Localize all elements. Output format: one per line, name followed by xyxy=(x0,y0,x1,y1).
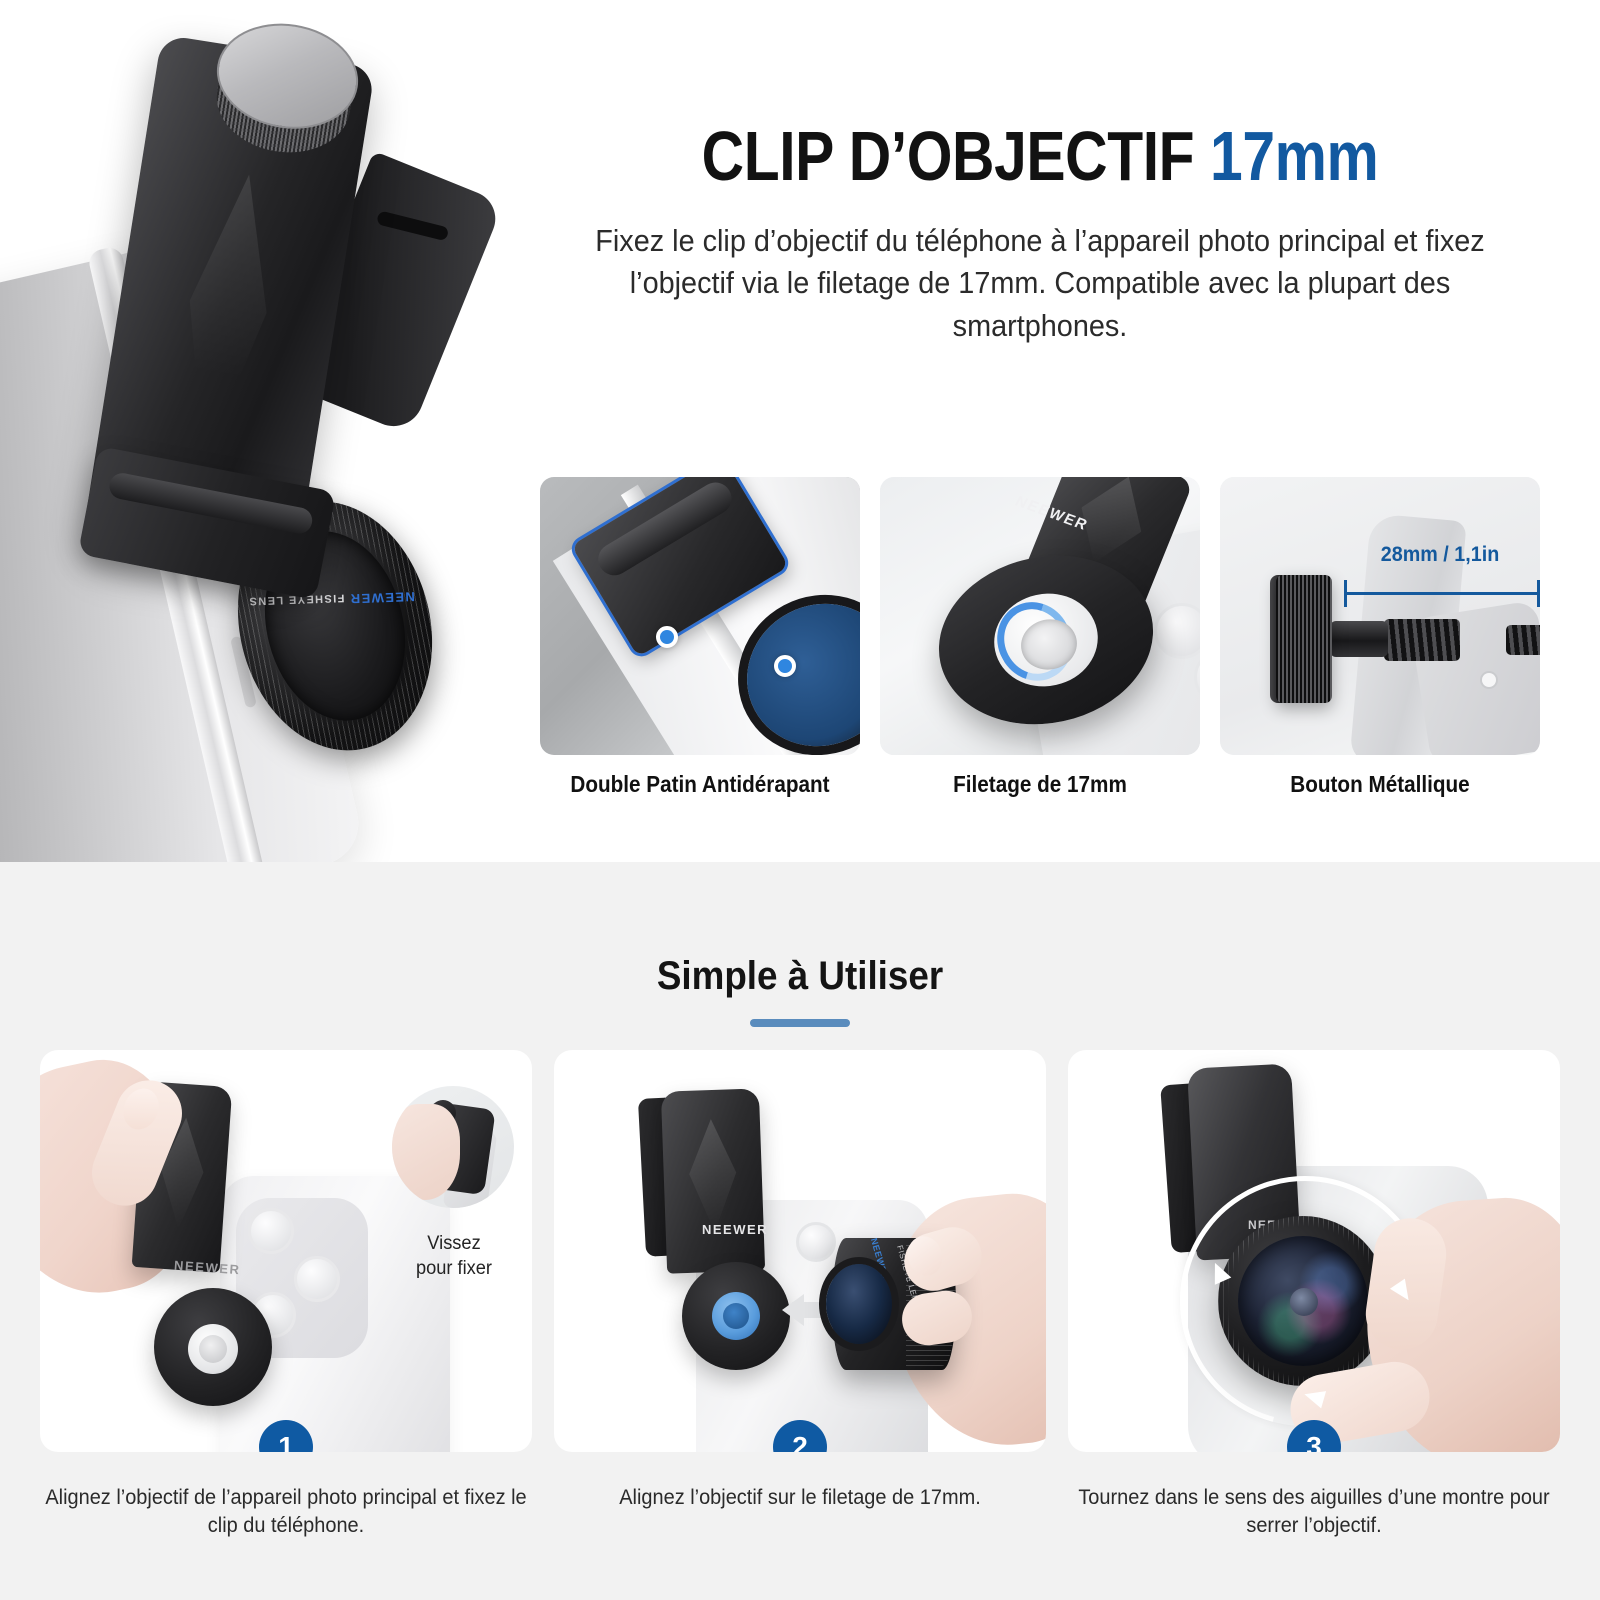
step3-lens-glass xyxy=(1238,1236,1368,1366)
feature-caption: Bouton Métallique xyxy=(1236,771,1524,798)
step2-clip-arm xyxy=(661,1088,765,1273)
usage-step-2: NEEWER NEEWER FISHEYE LENS 2 xyxy=(554,1050,1046,1452)
highlight-dot-icon xyxy=(774,655,796,677)
feature-caption: Double Patin Antidérapant xyxy=(556,771,844,798)
step-caption: Alignez l’objectif sur le filetage de 17… xyxy=(553,1484,1047,1512)
knob-clip-hole xyxy=(1482,673,1496,687)
anti-slip-pads-photo xyxy=(540,477,860,755)
17mm-thread-photo: NEEWER xyxy=(880,477,1200,755)
usage-title-underline xyxy=(750,1019,850,1027)
feature-card-anti-slip: Double Patin Antidérapant xyxy=(540,477,860,802)
step2-clip-facet xyxy=(687,1118,738,1232)
phone-camera-lens xyxy=(248,1208,294,1254)
page-description: Fixez le clip d’objectif du téléphone à … xyxy=(575,220,1505,348)
step2-lens-glass xyxy=(826,1264,892,1344)
step-caption: Tournez dans le sens des aiguilles d’une… xyxy=(1067,1484,1561,1539)
knob-screw-threads-left xyxy=(1384,619,1460,661)
page-title: CLIP D’OBJECTIF 17mm xyxy=(620,120,1460,194)
hero-lens-brand-text: NEEWER xyxy=(349,589,415,606)
step1-inset-note-line2: pour fixer xyxy=(379,1257,529,1282)
brand-logo-text: NEEWER xyxy=(702,1222,768,1237)
feature-card-thread: NEEWER Filetage de 17mm xyxy=(880,477,1200,802)
headline-block: CLIP D’OBJECTIF 17mm Fixez le clip d’obj… xyxy=(540,120,1540,348)
usage-step-3: NEEWER 3 xyxy=(1068,1050,1560,1452)
phone-camera-lens xyxy=(1194,649,1200,705)
measure-line xyxy=(1344,592,1540,595)
hero-clip-facet xyxy=(165,168,287,468)
step1-inset-note-line1: Vissez xyxy=(379,1232,529,1257)
phone-camera-lens xyxy=(294,1256,340,1302)
alignment-arrow-head-icon xyxy=(782,1294,804,1326)
page-title-accent: 17mm xyxy=(1210,117,1378,195)
step2-clip-lens-disc xyxy=(682,1262,790,1370)
page-title-main: CLIP D’OBJECTIF xyxy=(702,117,1210,195)
inset-hand xyxy=(392,1104,460,1200)
knob-screw-shaft xyxy=(1330,621,1388,657)
measure-label: 28mm / 1,1in xyxy=(1344,543,1536,567)
step1-inset-detail xyxy=(392,1086,514,1208)
feature-card-list: Double Patin Antidérapant NEEWER xyxy=(540,477,1540,802)
usage-step-1: NEEWER Vissez pour fixer 1 xyxy=(40,1050,532,1452)
hero-metal-knob xyxy=(204,14,366,171)
top-section: NEEWER FISHEYE LENS CLIP D’OBJECTIF 17mm… xyxy=(0,0,1600,862)
hero-clip-slot xyxy=(376,210,449,241)
usage-section-title: Simple à Utiliser xyxy=(64,954,1536,999)
knob-screw-threads-right xyxy=(1506,625,1540,655)
step1-clip-lens-disc xyxy=(154,1288,272,1406)
step-caption: Alignez l’objectif de l’appareil photo p… xyxy=(39,1484,533,1539)
feature-card-knob: 28mm / 1,1in Bouton Métallique xyxy=(1220,477,1540,802)
hero-product-photo: NEEWER FISHEYE LENS xyxy=(0,0,540,862)
phone-camera-lens xyxy=(1154,603,1200,659)
step3-lens-glass-center xyxy=(1290,1288,1318,1316)
step1-thread-opening xyxy=(199,1335,227,1363)
thread-phone-cameras xyxy=(1154,603,1200,699)
knob-knurled-head xyxy=(1276,575,1332,703)
step2-thread-opening xyxy=(723,1303,749,1329)
metal-knob-photo: 28mm / 1,1in xyxy=(1220,477,1540,755)
feature-caption: Filetage de 17mm xyxy=(896,771,1184,798)
highlight-dot-icon xyxy=(656,626,678,648)
measure-end-cap-right xyxy=(1537,580,1540,607)
phone-camera-lens xyxy=(796,1222,836,1262)
step1-inset-note: Vissez pour fixer xyxy=(379,1232,529,1281)
usage-section: Simple à Utiliser NEEWER xyxy=(0,862,1600,1600)
step3-fisheye-lens xyxy=(1218,1216,1388,1386)
usage-step-list: NEEWER Vissez pour fixer 1 xyxy=(40,1050,1560,1452)
product-infographic: NEEWER FISHEYE LENS CLIP D’OBJECTIF 17mm… xyxy=(0,0,1600,1600)
